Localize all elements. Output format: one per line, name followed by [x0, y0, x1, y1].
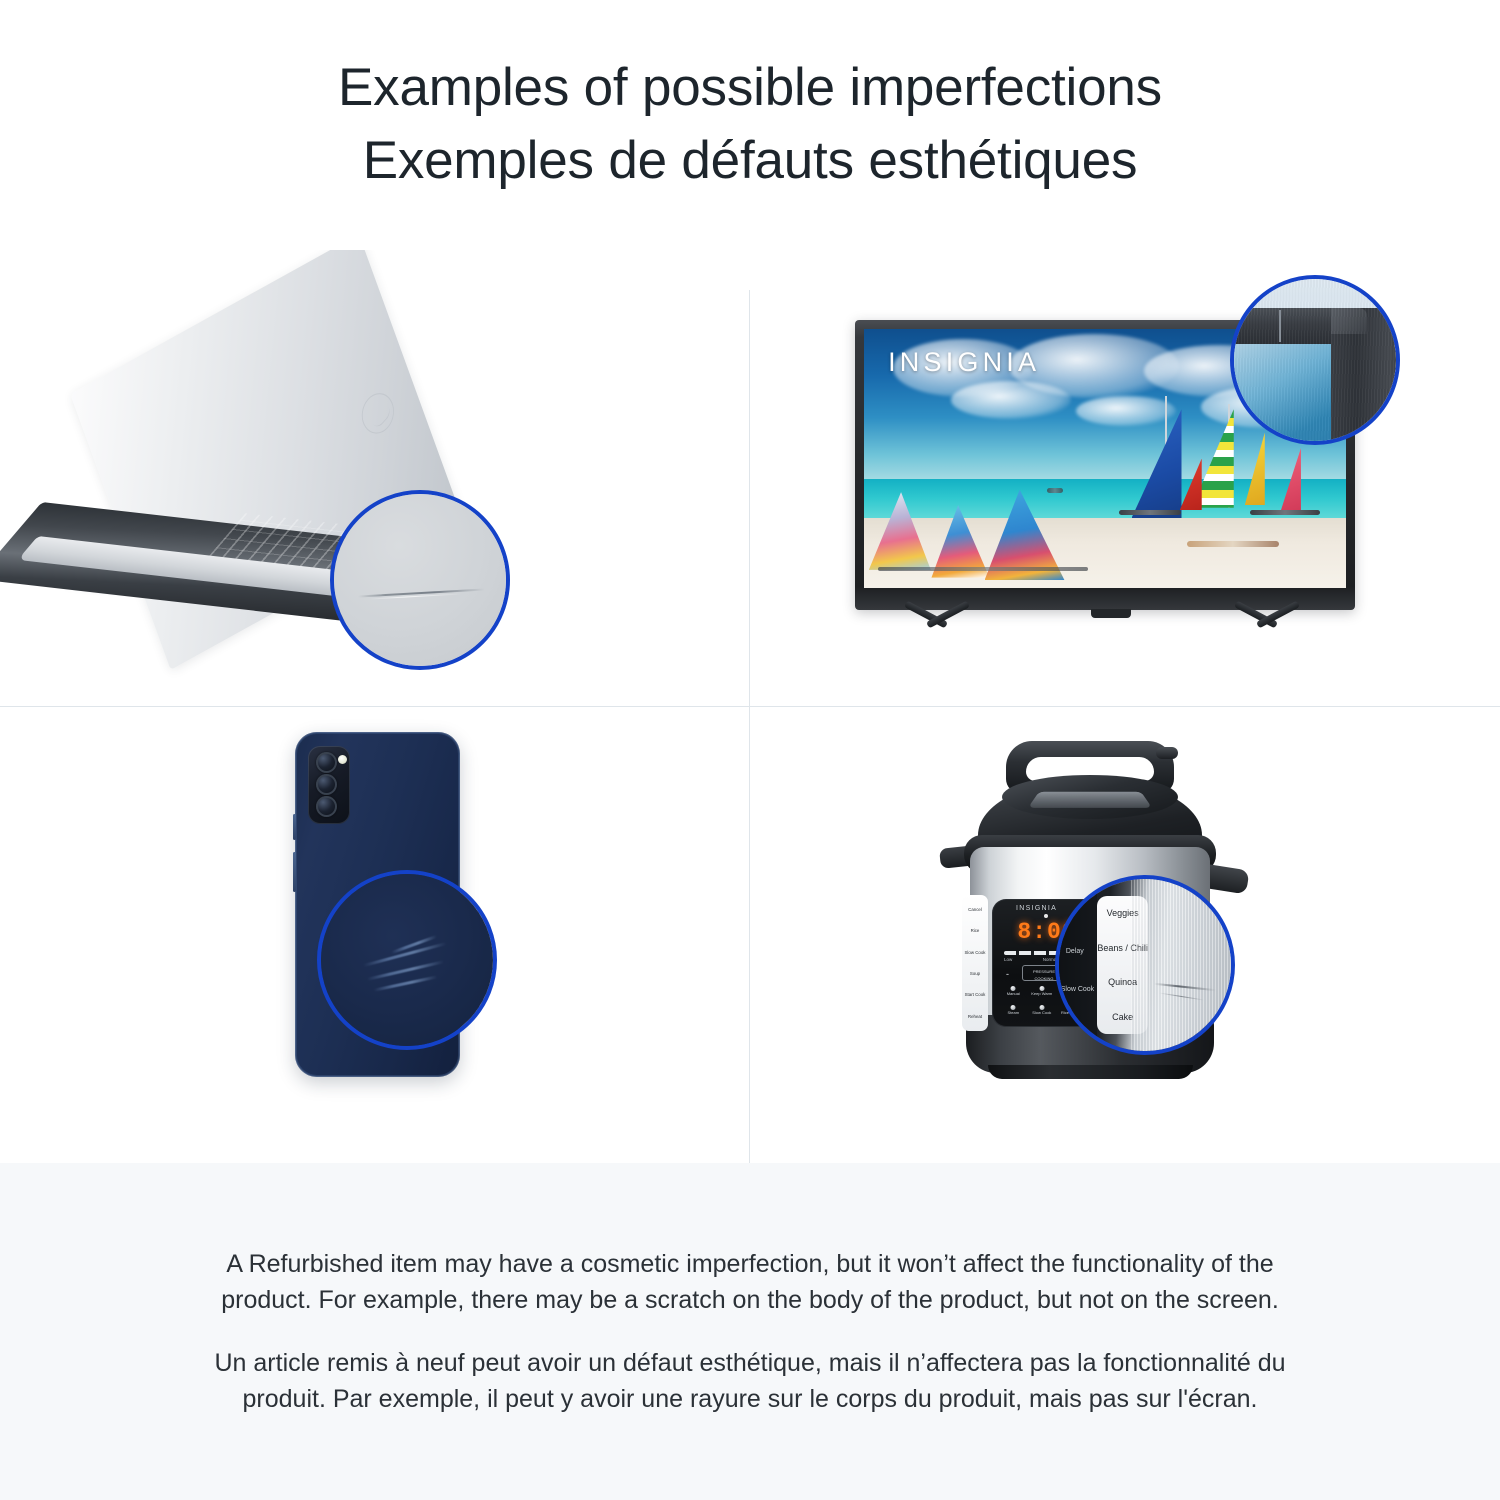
- tv-defect-magnifier: [1230, 275, 1400, 445]
- page-title-french: Exemples de défauts esthétiques: [363, 129, 1138, 194]
- cooker-button[interactable]: Start Cook: [965, 992, 986, 997]
- tv-scene-hull: [1250, 510, 1320, 515]
- camera-lens-icon: [316, 774, 337, 795]
- cooker-pressure-label: Low: [1004, 957, 1012, 962]
- tv-magnifier-texture: [1234, 279, 1396, 441]
- camera-lens-icon: [316, 796, 337, 817]
- cooker-magnifier-panel-edge: [1055, 879, 1097, 1051]
- tv-stand-leg-left: [903, 607, 965, 645]
- footer-paragraph-french: Un article remis à neuf peut avoir un dé…: [185, 1345, 1315, 1418]
- cooker-status-led-icon: [1044, 914, 1048, 918]
- camera-flash-icon: [338, 755, 347, 764]
- laptop-brand-logo-icon: [355, 385, 400, 442]
- phone-magnifier-surface: [321, 874, 493, 1046]
- cooker-minus-button[interactable]: -: [1006, 969, 1009, 979]
- cooker-button[interactable]: Soup: [970, 971, 980, 976]
- phone-illustration: [255, 722, 515, 1142]
- cooker-defect-magnifier: Delay Slow Cook Veggies Beans / Chili Qu…: [1055, 875, 1235, 1055]
- laptop-panel: [0, 250, 750, 706]
- tv-panel: INSIGNIA: [750, 250, 1500, 706]
- cooker-keypad-button[interactable]: Steam: [1000, 1004, 1027, 1021]
- cooker-brand-label: INSIGNIA: [1016, 905, 1057, 912]
- cooker-keypad-button[interactable]: Keep Warm: [1029, 985, 1056, 1002]
- page-header: Examples of possible imperfections Exemp…: [0, 0, 1500, 250]
- footer-paragraph-english: A Refurbished item may have a cosmetic i…: [185, 1246, 1315, 1319]
- cooker-left-button-column[interactable]: Cancel Rice Slow Cook Soup Start Cook Re…: [962, 895, 988, 1031]
- examples-grid: INSIGNIA: [0, 250, 1500, 1163]
- cooker-button[interactable]: Rice: [971, 928, 980, 933]
- phone-volume-button: [293, 852, 296, 892]
- tv-scene-hull: [1119, 510, 1181, 515]
- laptop-magnifier-surface: [334, 494, 506, 666]
- page-title-english: Examples of possible imperfections: [338, 56, 1162, 121]
- cooker-button[interactable]: Slow Cook: [965, 950, 986, 955]
- camera-lens-icon: [316, 752, 337, 773]
- cooker-brushed-steel-texture: [1131, 879, 1231, 1051]
- cooker-magnified-button: Cake: [1112, 1012, 1133, 1022]
- phone-camera-module: [308, 746, 350, 824]
- tv-brand-watermark: INSIGNIA: [888, 347, 1040, 378]
- tv-ir-sensor-icon: [1091, 609, 1131, 618]
- tv-scene-beached-boat: [1187, 541, 1279, 547]
- phone-panel: [0, 707, 750, 1163]
- cooker-keypad-button[interactable]: Slow Cook: [1029, 1004, 1056, 1021]
- cooker-keypad-button[interactable]: Manual: [1000, 985, 1027, 1002]
- cooker-button[interactable]: Cancel: [968, 907, 982, 912]
- cooker-button[interactable]: Reheat: [968, 1014, 982, 1019]
- tv-scene-foreground-hull: [878, 567, 1088, 571]
- tv-illustration: INSIGNIA: [855, 275, 1400, 675]
- phone-power-button: [293, 814, 296, 840]
- cooker-magnifier-label: Delay: [1066, 948, 1084, 955]
- tv-scene-cloud: [951, 381, 1071, 419]
- tv-stand-leg-right: [1233, 607, 1295, 645]
- cooker-feet: [988, 1065, 1193, 1079]
- footer-description: A Refurbished item may have a cosmetic i…: [0, 1163, 1500, 1500]
- refurbished-imperfections-infographic: Examples of possible imperfections Exemp…: [0, 0, 1500, 1500]
- tv-scene-distant-boat: [1047, 488, 1063, 493]
- phone-defect-magnifier: [317, 870, 497, 1050]
- pressure-cooker-illustration: Cancel Rice Slow Cook Soup Start Cook Re…: [930, 727, 1310, 1142]
- cooker-steam-valve-icon: [1156, 747, 1178, 759]
- laptop-illustration: [30, 290, 550, 680]
- laptop-defect-magnifier: [330, 490, 510, 670]
- cooker-magnifier-label: Slow Cook: [1061, 986, 1094, 993]
- pressure-cooker-panel: Cancel Rice Slow Cook Soup Start Cook Re…: [750, 707, 1500, 1163]
